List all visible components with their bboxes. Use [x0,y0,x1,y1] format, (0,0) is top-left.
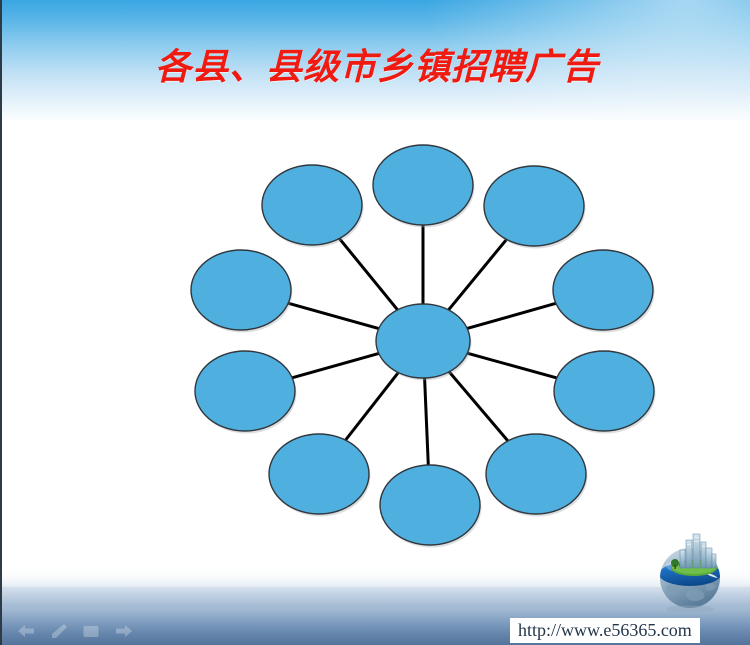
diagram-node-shape[interactable] [262,165,362,245]
presentation-slide: 各县、县级市乡镇招聘广告 [0,0,750,645]
diagram-spoke [448,239,507,311]
diagram-node-shape[interactable] [195,351,295,431]
diagram-node-shape[interactable] [269,434,369,514]
diagram-node-shape[interactable] [380,465,480,545]
slideshow-controls[interactable] [16,623,134,639]
diagram-spoke [291,353,379,378]
pen-icon[interactable] [50,623,68,639]
diagram-center-node[interactable] [376,304,472,381]
diagram-spoke [466,303,557,329]
diagram-node[interactable] [269,434,371,517]
diagram-spoke [425,377,429,466]
radial-diagram-canvas [162,130,682,560]
radial-diagram [162,130,682,560]
diagram-node[interactable] [380,465,482,548]
diagram-node-shape[interactable] [376,304,470,378]
diagram-node-shape[interactable] [554,351,654,431]
diagram-node[interactable] [195,351,297,434]
globe-shadow [666,606,714,613]
diagram-node-shape[interactable] [553,250,653,330]
diagram-node-shape[interactable] [484,166,584,246]
diagram-nodes [191,145,656,548]
square-icon[interactable] [82,624,100,639]
diagram-node[interactable] [554,351,656,434]
diagram-node[interactable] [553,250,655,333]
diagram-node[interactable] [373,145,475,228]
diagram-node[interactable] [191,250,293,333]
diagram-spoke [466,353,557,378]
watermark-url: http://www.e56365.com [510,618,700,643]
slide-horizon-haze [2,553,750,587]
diagram-node-shape[interactable] [191,250,291,330]
diagram-node[interactable] [486,434,588,517]
diagram-node[interactable] [484,166,586,249]
forward-arrow-icon[interactable] [114,624,134,638]
diagram-spoke [345,372,399,441]
diagram-node-shape[interactable] [373,145,473,225]
diagram-node-shape[interactable] [486,434,586,514]
diagram-node[interactable] [262,165,364,248]
globe-city-image [642,526,738,612]
diagram-spoke [448,371,508,442]
diagram-spoke [287,303,379,329]
diagram-spoke [339,238,399,311]
back-arrow-icon[interactable] [16,624,36,638]
page-title: 各县、县级市乡镇招聘广告 [2,38,750,90]
